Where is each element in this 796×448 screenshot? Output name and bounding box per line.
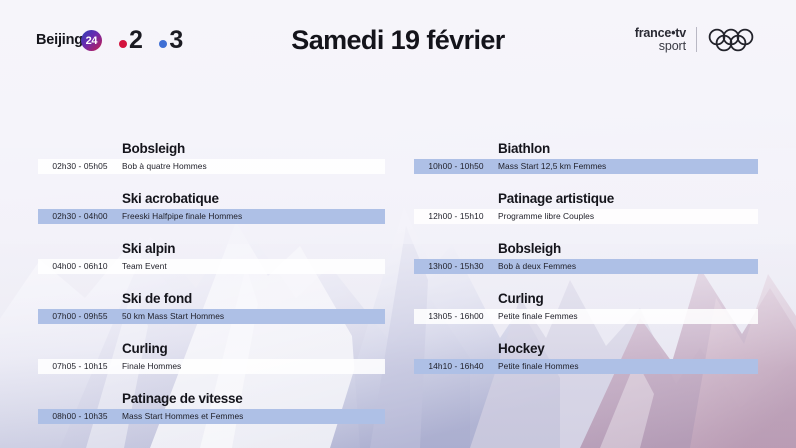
francetv-wordmark: france•tv sport <box>635 27 686 53</box>
logo-divider <box>696 27 697 52</box>
event-label: Petite finale Femmes <box>498 309 578 324</box>
sport-heading: Bobsleigh <box>414 238 758 259</box>
sport-block: Ski de fond 07h00 - 09h55 50 km Mass Sta… <box>38 288 385 324</box>
sport-heading: Patinage de vitesse <box>38 388 385 409</box>
sport-heading: Biathlon <box>414 138 758 159</box>
sport-block: Ski acrobatique 02h30 - 04h00 Freeski Ha… <box>38 188 385 224</box>
event-time: 08h00 - 10h35 <box>38 409 122 424</box>
francetv-sport-logo: france•tv sport <box>635 27 763 53</box>
event-time: 13h05 - 16h00 <box>414 309 498 324</box>
table-row[interactable]: 13h00 - 15h30 Bob à deux Femmes <box>414 259 758 274</box>
sport-block: Bobsleigh 13h00 - 15h30 Bob à deux Femme… <box>414 238 758 274</box>
table-row[interactable]: 07h00 - 09h55 50 km Mass Start Hommes <box>38 309 385 324</box>
event-time: 07h05 - 10h15 <box>38 359 122 374</box>
table-row[interactable]: 10h00 - 10h50 Mass Start 12,5 km Femmes <box>414 159 758 174</box>
schedule-column-left: Bobsleigh 02h30 - 05h05 Bob à quatre Hom… <box>38 138 385 438</box>
sport-heading: Bobsleigh <box>38 138 385 159</box>
table-row[interactable]: 12h00 - 15h10 Programme libre Couples <box>414 209 758 224</box>
sport-heading: Curling <box>414 288 758 309</box>
sport-block: Biathlon 10h00 - 10h50 Mass Start 12,5 k… <box>414 138 758 174</box>
event-label: Finale Hommes <box>122 359 181 374</box>
sport-heading: Ski alpin <box>38 238 385 259</box>
event-time: 14h10 - 16h40 <box>414 359 498 374</box>
sport-block: Curling 13h05 - 16h00 Petite finale Femm… <box>414 288 758 324</box>
table-row[interactable]: 02h30 - 04h00 Freeski Halfpipe finale Ho… <box>38 209 385 224</box>
table-row[interactable]: 07h05 - 10h15 Finale Hommes <box>38 359 385 374</box>
sport-heading: Ski de fond <box>38 288 385 309</box>
event-label: Team Event <box>122 259 167 274</box>
sport-block: Patinage de vitesse 08h00 - 10h35 Mass S… <box>38 388 385 424</box>
event-label: Mass Start Hommes et Femmes <box>122 409 243 424</box>
table-row[interactable]: 08h00 - 10h35 Mass Start Hommes et Femme… <box>38 409 385 424</box>
sport-block: Curling 07h05 - 10h15 Finale Hommes <box>38 338 385 374</box>
sport-block: Hockey 14h10 - 16h40 Petite finale Homme… <box>414 338 758 374</box>
schedule-column-right: Biathlon 10h00 - 10h50 Mass Start 12,5 k… <box>414 138 758 388</box>
sport-heading: Hockey <box>414 338 758 359</box>
table-row[interactable]: 02h30 - 05h05 Bob à quatre Hommes <box>38 159 385 174</box>
table-row[interactable]: 13h05 - 16h00 Petite finale Femmes <box>414 309 758 324</box>
sport-block: Bobsleigh 02h30 - 05h05 Bob à quatre Hom… <box>38 138 385 174</box>
event-label: Programme libre Couples <box>498 209 594 224</box>
event-label: 50 km Mass Start Hommes <box>122 309 224 324</box>
event-time: 02h30 - 05h05 <box>38 159 122 174</box>
event-time: 12h00 - 15h10 <box>414 209 498 224</box>
event-time: 04h00 - 06h10 <box>38 259 122 274</box>
sport-heading: Ski acrobatique <box>38 188 385 209</box>
event-label: Bob à quatre Hommes <box>122 159 207 174</box>
sport-heading: Patinage artistique <box>414 188 758 209</box>
francetv-line-1: france•tv <box>635 27 686 40</box>
sport-block: Patinage artistique 12h00 - 15h10 Progra… <box>414 188 758 224</box>
schedule-graphic: Beijing 24 2 3 Samedi 19 février france•… <box>0 0 796 448</box>
sport-block: Ski alpin 04h00 - 06h10 Team Event <box>38 238 385 274</box>
event-label: Mass Start 12,5 km Femmes <box>498 159 606 174</box>
header-bar: Beijing 24 2 3 Samedi 19 février france•… <box>0 0 796 82</box>
sport-heading: Curling <box>38 338 385 359</box>
event-label: Petite finale Hommes <box>498 359 579 374</box>
francetv-line-2: sport <box>635 40 686 53</box>
event-time: 07h00 - 09h55 <box>38 309 122 324</box>
event-time: 02h30 - 04h00 <box>38 209 122 224</box>
table-row[interactable]: 14h10 - 16h40 Petite finale Hommes <box>414 359 758 374</box>
table-row[interactable]: 04h00 - 06h10 Team Event <box>38 259 385 274</box>
event-time: 10h00 - 10h50 <box>414 159 498 174</box>
olympic-rings-icon <box>707 28 763 52</box>
event-label: Bob à deux Femmes <box>498 259 576 274</box>
event-time: 13h00 - 15h30 <box>414 259 498 274</box>
event-label: Freeski Halfpipe finale Hommes <box>122 209 242 224</box>
